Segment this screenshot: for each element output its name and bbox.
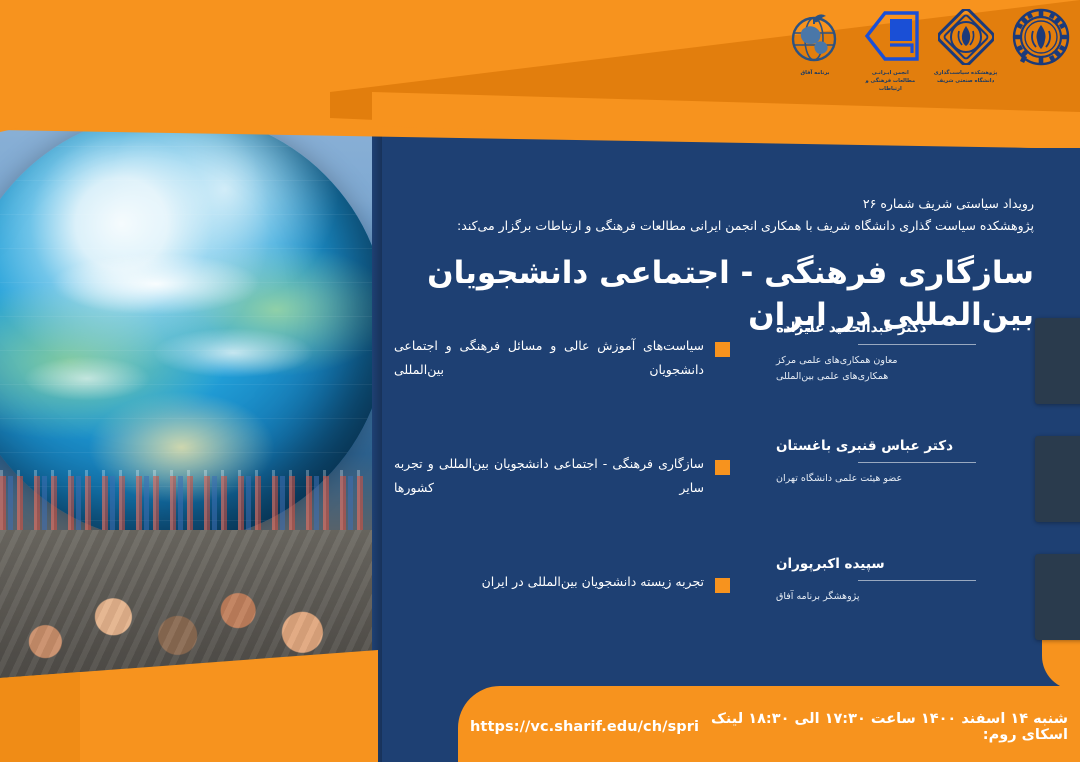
speaker-identity: سپیده اکبرپوران پژوهشگر برنامه آفاق: [776, 556, 976, 605]
speaker-photo-alizadeh: [1035, 318, 1080, 404]
skyroom-link[interactable]: https://vc.sharif.edu/ch/spri: [470, 719, 699, 735]
speaker-name: دکتر عبدالحمید علیزاده: [776, 320, 976, 336]
bullet-square-icon: [715, 342, 730, 357]
flag-banners: [0, 476, 378, 534]
policy-institute-logo-caption: پژوهشکده سیاست‌گذاری دانشگاه صنعتی شریف: [934, 70, 997, 86]
event-poster: برنامه آفاق انجمن ایـرانـی مطالعات فرهنگ…: [0, 0, 1080, 762]
footer-info: شنبه ۱۴ اسفند ۱۴۰۰ ساعت ۱۷:۳۰ الی ۱۸:۳۰ …: [470, 710, 1068, 744]
speaker-list: دکتر عبدالحمید علیزاده معاون همکاری‌های …: [400, 312, 1060, 666]
afagh-globe-logo-caption: برنامه آفاق: [801, 70, 830, 78]
sharif-university-of-technology-logo: [1006, 6, 1076, 70]
logo-row: برنامه آفاق انجمن ایـرانـی مطالعات فرهنگ…: [780, 6, 1076, 106]
event-datetime: شنبه ۱۴ اسفند ۱۴۰۰ ساعت ۱۷:۳۰ الی ۱۸:۳۰ …: [703, 711, 1068, 743]
speaker-affiliation: معاون همکاری‌های علمی مرکز همکاری‌های عل…: [776, 353, 976, 384]
iranian-cultural-communication-studies-association-logo: انجمن ایـرانـی مطالعات فرهنگی و ارتباطات: [855, 6, 925, 93]
speaker-photo-akbarpouran: [1035, 554, 1080, 640]
speaker-row: دکتر عباس قنبری باغستان عضو هیئت علمی دا…: [400, 430, 1060, 548]
speaker-name: دکتر عباس قنبری باغستان: [776, 438, 976, 454]
association-logo-caption: انجمن ایـرانـی مطالعات فرهنگی و ارتباطات: [855, 70, 925, 93]
globe-icon: [787, 6, 843, 68]
bullet-square-icon: [715, 460, 730, 475]
speaker-topic: سازگاری فرهنگی - اجتماعی دانشجویان بین‌ا…: [394, 452, 704, 500]
sharif-policy-research-institute-logo: پژوهشکده سیاست‌گذاری دانشگاه صنعتی شریف: [931, 6, 1001, 86]
speaker-row: سپیده اکبرپوران پژوهشگر برنامه آفاق تجرب…: [400, 548, 1060, 666]
speaker-topic: سیاست‌های آموزش عالی و مسائل فرهنگی و اج…: [394, 334, 704, 382]
speaker-row: دکتر عبدالحمید علیزاده معاون همکاری‌های …: [400, 312, 1060, 430]
speaker-affiliation: پژوهشگر برنامه آفاق: [776, 589, 976, 605]
speaker-identity: دکتر عبدالحمید علیزاده معاون همکاری‌های …: [776, 320, 976, 384]
speaker-identity: دکتر عباس قنبری باغستان عضو هیئت علمی دا…: [776, 438, 976, 487]
policy-institute-emblem-icon: [938, 6, 994, 68]
event-number-line: رویداد سیاستی شریف شماره ۲۶: [374, 196, 1034, 211]
speaker-affiliation: عضو هیئت علمی دانشگاه تهران: [776, 471, 976, 487]
divider: [858, 344, 976, 345]
afagh-globe-logo: برنامه آفاق: [780, 6, 850, 78]
organizer-line: پژوهشکده سیاست گذاری دانشگاه شریف با همک…: [374, 218, 1034, 233]
divider: [858, 580, 976, 581]
speaker-topic: تجربه زیسته دانشجویان بین‌المللی در ایرا…: [394, 570, 704, 594]
speaker-photo-ghanbari: [1035, 436, 1080, 522]
association-emblem-icon: [859, 6, 921, 68]
sharif-university-emblem-icon: [1012, 6, 1070, 68]
bullet-square-icon: [715, 578, 730, 593]
speaker-name: سپیده اکبرپوران: [776, 556, 976, 572]
divider: [858, 462, 976, 463]
